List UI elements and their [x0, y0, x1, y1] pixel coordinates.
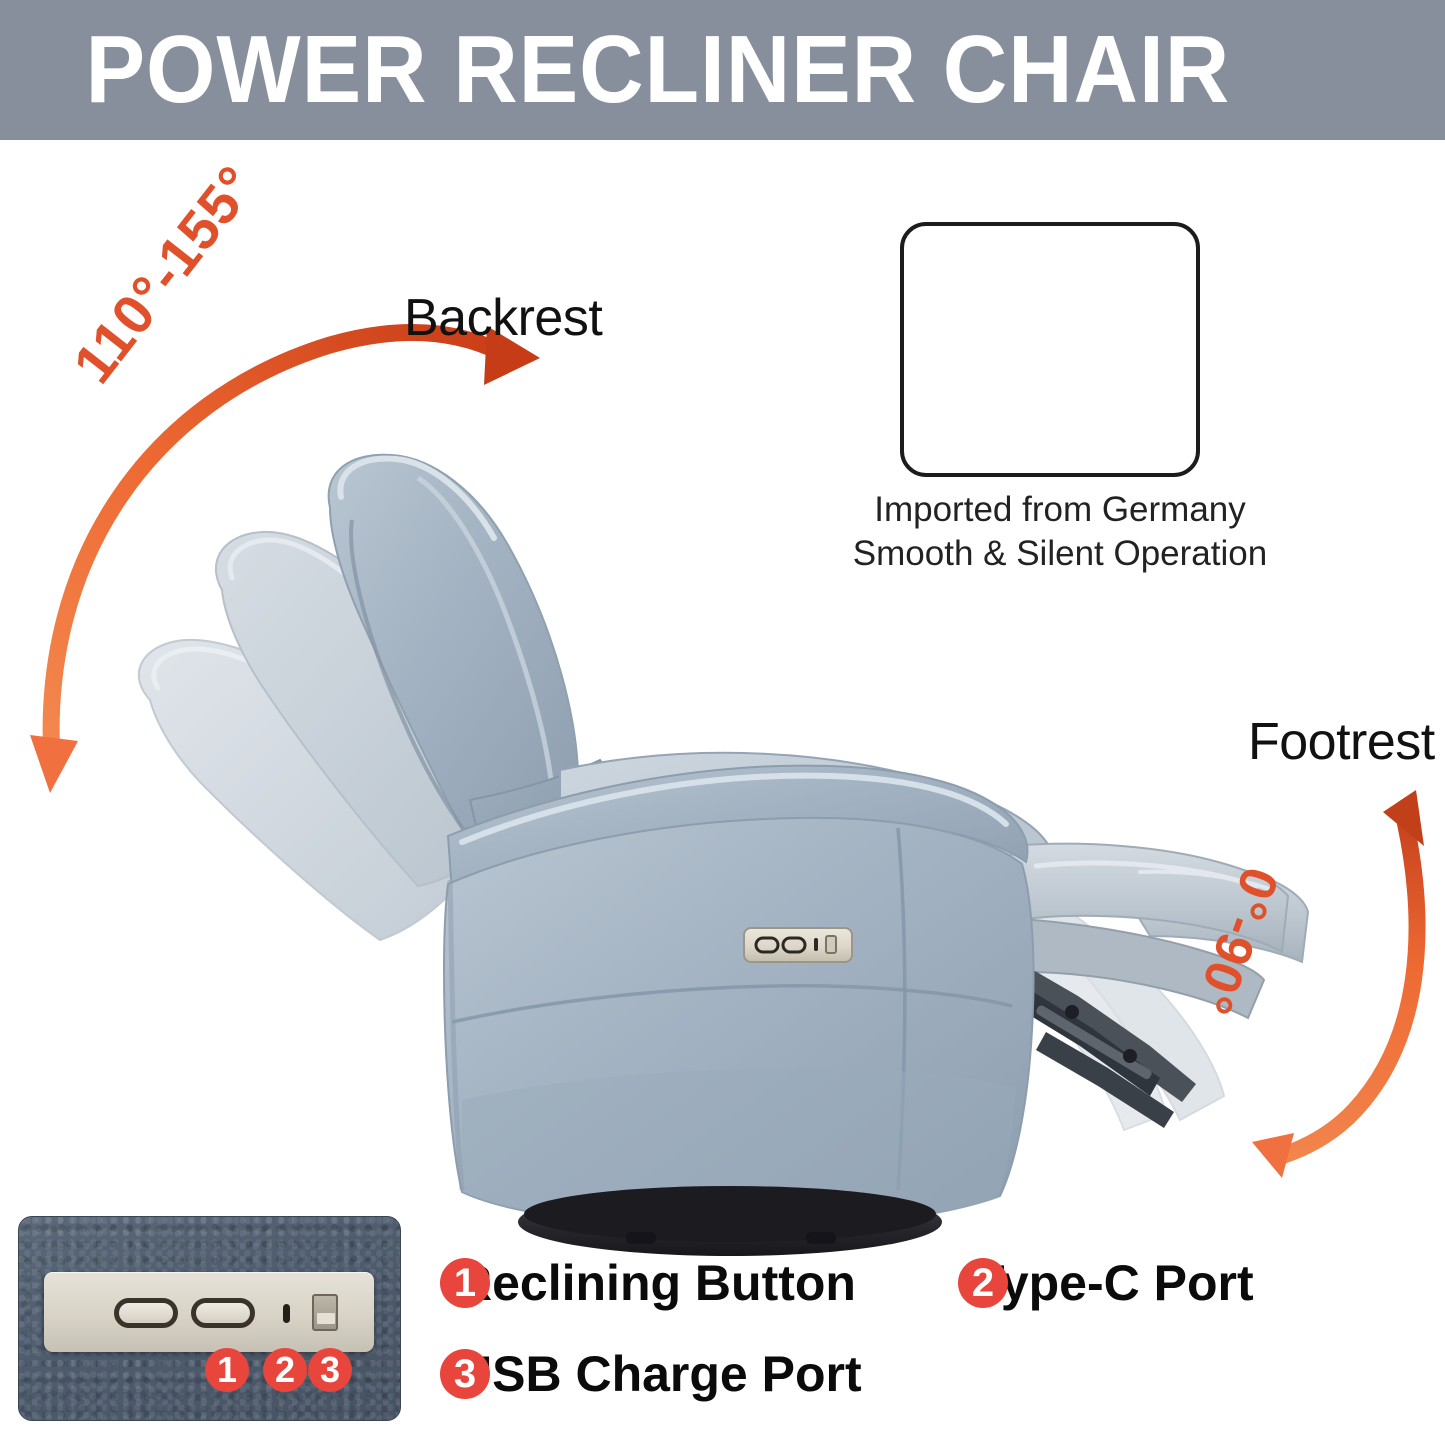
detail-badge-1: 1: [205, 1348, 249, 1392]
footrest-label: Footrest: [1248, 712, 1435, 772]
legend-badge-1: 1: [440, 1258, 490, 1308]
detail-badge-3: 3: [308, 1348, 352, 1392]
detail-badge-2: 2: [263, 1348, 307, 1392]
legend-badge-3: 3: [440, 1349, 490, 1399]
legend-label-1: Reclining Button: [456, 1254, 856, 1312]
motor-feature-caption: Imported from Germany Smooth & Silent Op…: [830, 488, 1290, 576]
motor-caption-line-2: Smooth & Silent Operation: [830, 532, 1290, 576]
motor-feature-box: [900, 222, 1200, 477]
usb-port-icon[interactable]: [312, 1294, 338, 1331]
chair-arm-and-body: [444, 766, 1034, 1229]
legend-item-reclining-button: 1 Reclining Button: [440, 1254, 856, 1312]
legend-badge-2: 2: [958, 1258, 1008, 1308]
type-c-port-icon[interactable]: [283, 1304, 290, 1323]
recline-button-1[interactable]: [114, 1298, 178, 1328]
legend-label-3: USB Charge Port: [456, 1345, 862, 1403]
swivel-base: [518, 1186, 942, 1256]
legend-item-usb-charge-port: 3 USB Charge Port: [440, 1345, 862, 1403]
recline-button-2[interactable]: [191, 1298, 255, 1328]
chair-control-panel[interactable]: [744, 928, 852, 962]
control-panel-detail-box: [18, 1216, 401, 1421]
control-panel-plate[interactable]: [44, 1272, 374, 1352]
legend-label-2: Type-C Port: [974, 1254, 1254, 1312]
legend-item-type-c-port: 2 Type-C Port: [958, 1254, 1254, 1312]
footrest-angle-arc: [1252, 790, 1424, 1178]
backrest-label: Backrest: [404, 288, 602, 348]
motor-caption-line-1: Imported from Germany: [830, 488, 1290, 532]
